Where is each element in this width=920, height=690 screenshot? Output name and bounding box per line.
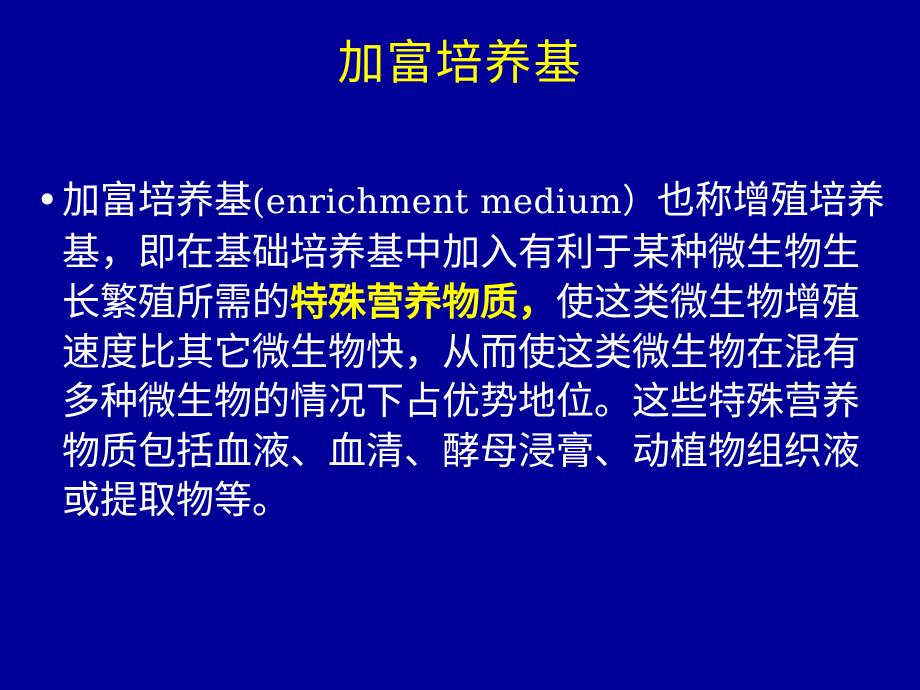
page-title: 加富培养基 [338,36,583,92]
body-paragraph: 加富培养基(enrichment medium）也称增殖培养基，即在基础培养基中… [62,176,894,526]
slide-title-area: 加富培养基 [0,36,920,92]
body-segment-emphasis: 特殊营养物质， [290,279,556,324]
body-segment-term: 加富培养基 [62,178,252,222]
slide-body-area: • 加富培养基(enrichment medium）也称增殖培养基，即在基础培养… [28,176,894,526]
body-segment-latin-term: (enrichment medium） [252,182,657,222]
bullet-list-item: • 加富培养基(enrichment medium）也称增殖培养基，即在基础培养… [28,176,894,526]
bullet-marker-icon: • [28,176,62,225]
presentation-slide: 加富培养基 • 加富培养基(enrichment medium）也称增殖培养基，… [0,0,920,690]
